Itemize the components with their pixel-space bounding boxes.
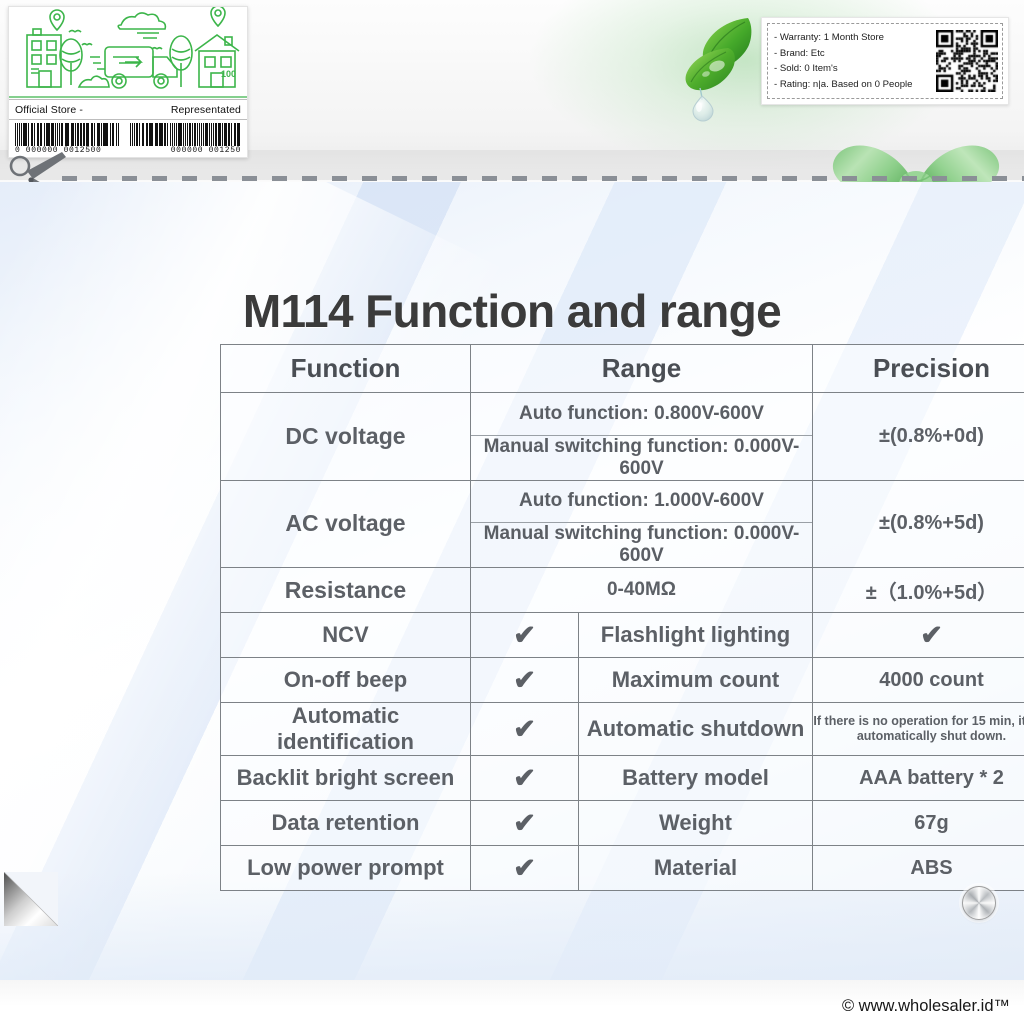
table-row: Data retention✔Weight67g bbox=[221, 801, 1024, 846]
svg-text:100: 100 bbox=[221, 69, 236, 79]
product-info-box: - Warranty: 1 Month Store - Brand: Etc -… bbox=[761, 17, 1009, 105]
cell-value: AAA battery * 2 bbox=[813, 756, 1024, 801]
qr-code bbox=[936, 30, 998, 92]
cell-check-right: ✔ bbox=[813, 613, 1024, 658]
cell-value: 4000 count bbox=[813, 658, 1024, 703]
table-row: AC voltageAuto function: 1.000V-600VManu… bbox=[221, 480, 1024, 568]
store-sticker: 100 Official Store - Representated 0 000… bbox=[8, 6, 248, 158]
table-header-row: Function Range Precision bbox=[221, 345, 1024, 393]
info-lines: - Warranty: 1 Month Store - Brand: Etc -… bbox=[774, 30, 932, 92]
info-line-sold: - Sold: 0 Item's bbox=[774, 61, 932, 77]
info-line-brand: - Brand: Etc bbox=[774, 46, 932, 62]
page-title: M114 Function and range bbox=[0, 284, 1024, 338]
cell-feature-right: Automatic shutdown bbox=[579, 703, 813, 756]
table-row: On-off beep✔Maximum count4000 count bbox=[221, 658, 1024, 703]
header-function: Function bbox=[221, 345, 471, 393]
info-box-dashed-border: - Warranty: 1 Month Store - Brand: Etc -… bbox=[767, 23, 1003, 99]
header-precision: Precision bbox=[813, 345, 1024, 393]
barcode-right-digits: 000000 001250 bbox=[171, 146, 241, 155]
cell-range-auto: Auto function: 1.000V-600V bbox=[471, 481, 812, 523]
official-store-label: Official Store - bbox=[15, 104, 83, 116]
cell-check-left: ✔ bbox=[471, 801, 579, 846]
cell-value: ABS bbox=[813, 846, 1024, 891]
table-row: DC voltageAuto function: 0.800V-600VManu… bbox=[221, 393, 1024, 481]
cell-range: 0-40MΩ bbox=[471, 568, 813, 613]
cell-feature-left: Low power prompt bbox=[221, 846, 471, 891]
cell-range-group: Auto function: 1.000V-600VManual switchi… bbox=[471, 480, 813, 568]
cell-check-left: ✔ bbox=[471, 703, 579, 756]
page-corner-fold bbox=[4, 872, 58, 926]
cell-function: DC voltage bbox=[221, 393, 471, 481]
cell-precision: ±(0.8%+0d) bbox=[813, 393, 1024, 481]
cell-feature-right: Maximum count bbox=[579, 658, 813, 703]
cell-check-left: ✔ bbox=[471, 613, 579, 658]
table-row: Low power prompt✔MaterialABS bbox=[221, 846, 1024, 891]
representated-label: Representated bbox=[171, 104, 241, 116]
cell-feature-right: Material bbox=[579, 846, 813, 891]
cell-precision: ±(0.8%+5d) bbox=[813, 480, 1024, 568]
cell-feature-left: Backlit bright screen bbox=[221, 756, 471, 801]
info-line-rating: - Rating: n|a. Based on 0 People bbox=[774, 77, 932, 93]
cell-feature-left: Automatic identification bbox=[221, 703, 471, 756]
spec-card: M114 Function and range Function Range P… bbox=[0, 182, 1024, 982]
table-row: Automatic identification✔Automatic shutd… bbox=[221, 703, 1024, 756]
table-row: Backlit bright screen✔Battery modelAAA b… bbox=[221, 756, 1024, 801]
cell-check-left: ✔ bbox=[471, 846, 579, 891]
table-row: NCV✔Flashlight lighting✔ bbox=[221, 613, 1024, 658]
cell-check-left: ✔ bbox=[471, 658, 579, 703]
cell-function: AC voltage bbox=[221, 480, 471, 568]
cell-value: 67g bbox=[813, 801, 1024, 846]
cell-feature-right: Weight bbox=[579, 801, 813, 846]
header-range: Range bbox=[471, 345, 813, 393]
sticker-label-row: Official Store - Representated bbox=[9, 99, 247, 120]
dashed-cut-line bbox=[62, 176, 1024, 181]
page-root: 100 Official Store - Representated 0 000… bbox=[0, 0, 1024, 1024]
table-body: DC voltageAuto function: 0.800V-600VManu… bbox=[221, 393, 1024, 891]
cell-value: If there is no operation for 15 min, it … bbox=[813, 703, 1024, 756]
cell-function: Resistance bbox=[221, 568, 471, 613]
metal-knob bbox=[962, 886, 996, 920]
specification-table: Function Range Precision DC voltageAuto … bbox=[220, 344, 1024, 891]
copyright-watermark: © www.wholesaler.id™ bbox=[842, 997, 1010, 1016]
cell-precision: ±（1.0%+5d） bbox=[813, 568, 1024, 613]
cell-check-left: ✔ bbox=[471, 756, 579, 801]
cell-feature-right: Battery model bbox=[579, 756, 813, 801]
cell-feature-left: NCV bbox=[221, 613, 471, 658]
delivery-truck-city-illustration: 100 bbox=[9, 7, 247, 99]
cell-range-manual: Manual switching function: 0.000V-600V bbox=[471, 523, 812, 568]
cell-feature-left: On-off beep bbox=[221, 658, 471, 703]
cell-feature-right: Flashlight lighting bbox=[579, 613, 813, 658]
cell-range-group: Auto function: 0.800V-600VManual switchi… bbox=[471, 393, 813, 481]
info-line-warranty: - Warranty: 1 Month Store bbox=[774, 30, 932, 46]
barcode-bars bbox=[15, 123, 241, 146]
cell-range-auto: Auto function: 0.800V-600V bbox=[471, 393, 812, 435]
cell-feature-left: Data retention bbox=[221, 801, 471, 846]
table-row: Resistance0-40MΩ±（1.0%+5d） bbox=[221, 568, 1024, 613]
cell-range-manual: Manual switching function: 0.000V-600V bbox=[471, 435, 812, 480]
